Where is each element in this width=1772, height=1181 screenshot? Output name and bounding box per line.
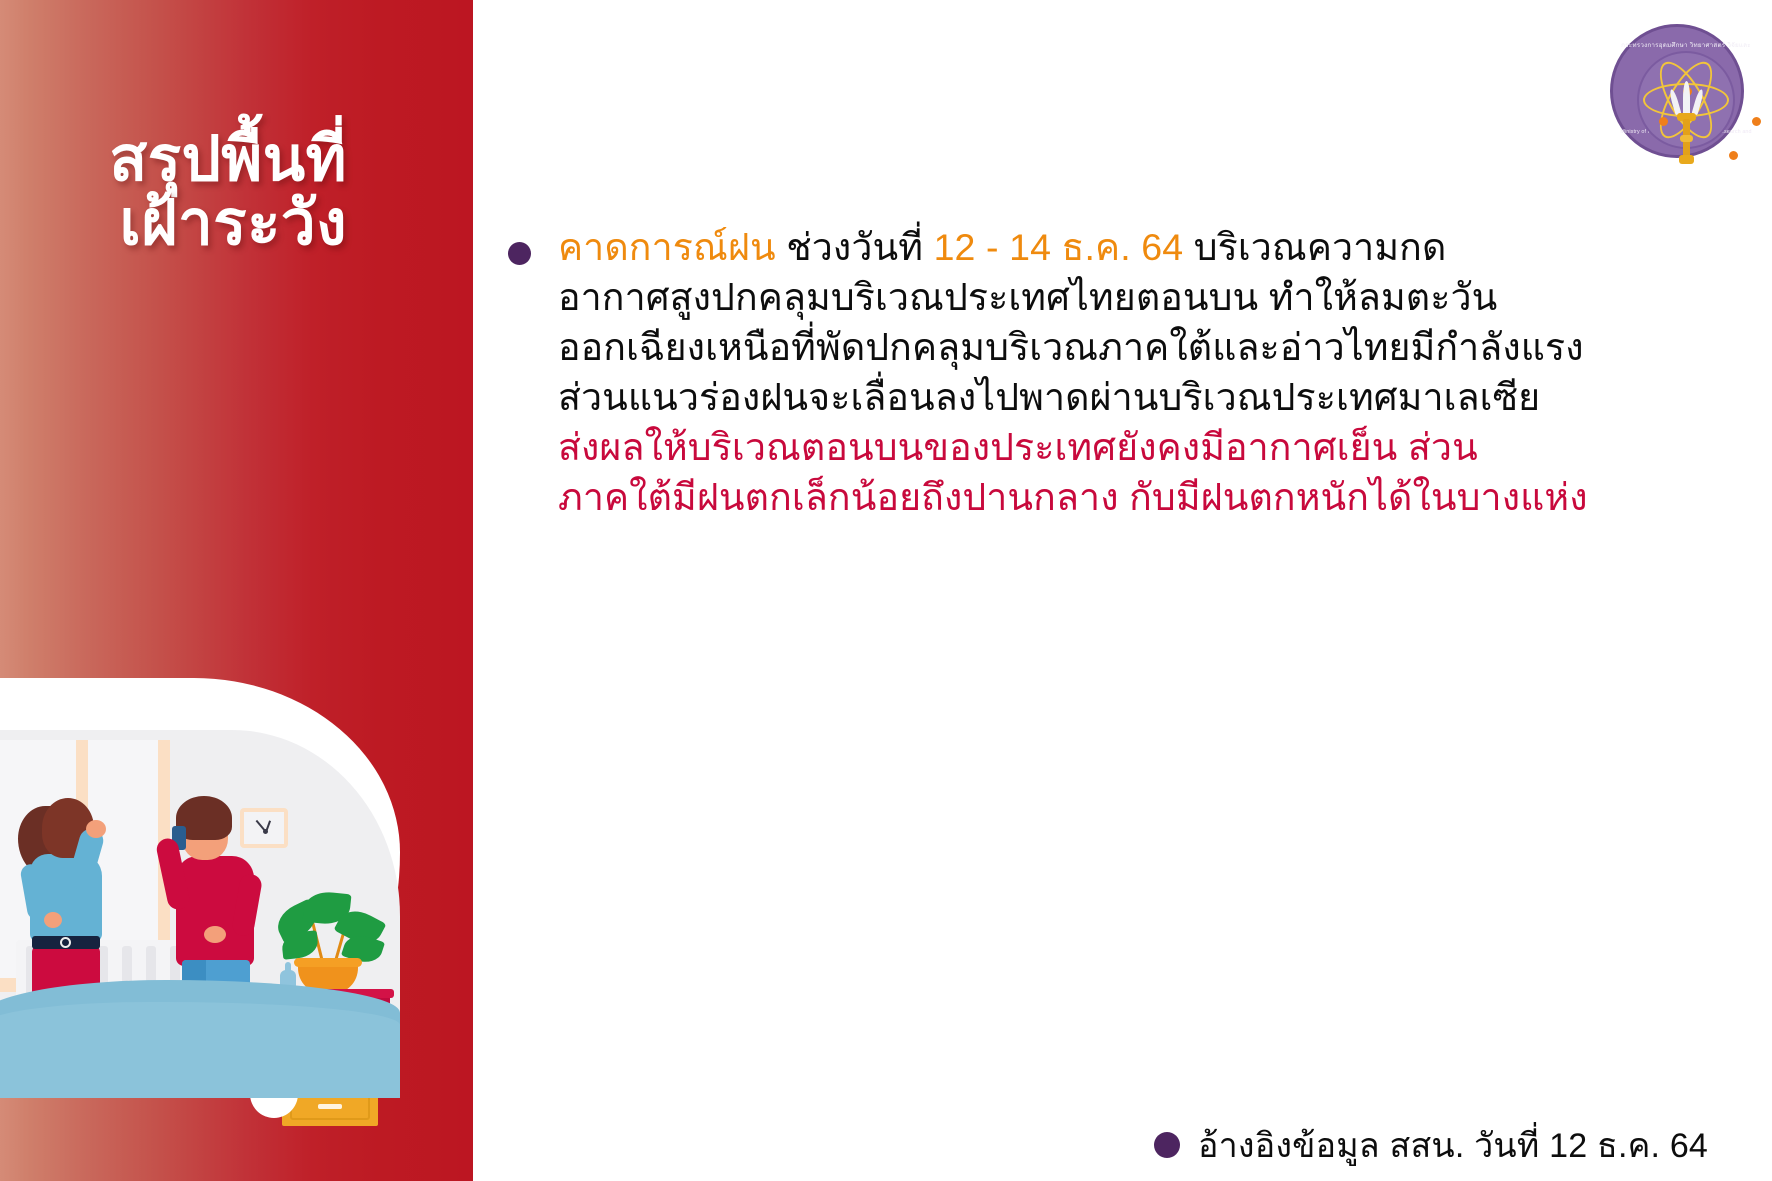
cabinet-handle xyxy=(318,1104,342,1109)
forecast-content: คาดการณ์ฝน ช่วงวันที่ 12 - 14 ธ.ค. 64 บร… xyxy=(498,222,1728,522)
page-title: สรุปพื้นที่ เฝ้าระวัง xyxy=(0,128,473,256)
forecast-line-5: ส่งผลให้บริเวณตอนบนของประเทศยังคงมีอากาศ… xyxy=(558,422,1728,472)
trident-base xyxy=(1679,155,1694,164)
forecast-segment: บริเวณความกด xyxy=(1183,226,1446,268)
source-reference-text: อ้างอิงข้อมูล สสน. วันที่ 12 ธ.ค. 64 xyxy=(1198,1118,1708,1172)
trident-blade-right xyxy=(1692,89,1705,116)
wall-clock-icon xyxy=(240,808,288,848)
woman-raised-hand xyxy=(86,820,106,838)
forecast-line-4: ส่วนแนวร่องฝนจะเลื่อนลงไปพาดผ่านบริเวณปร… xyxy=(558,372,1728,422)
trident-icon xyxy=(1669,81,1703,139)
forecast-segment: อากาศสูงปกคลุมบริเวณประเทศไทยตอนบน ทำให้… xyxy=(558,276,1497,318)
atom-node-icon xyxy=(1729,151,1738,160)
plant-pot-rim xyxy=(294,958,362,967)
forecast-line-6: ภาคใต้มีฝนตกเล็กน้อยถึงปานกลาง กับมีฝนตก… xyxy=(558,472,1728,522)
ministry-logo: กระทรวงการอุดมศึกษา วิทยาศาสตร์ วิจัยและ… xyxy=(1604,18,1750,164)
woman-left-hand xyxy=(44,912,62,928)
forecast-segment: 12 - 14 ธ.ค. 64 xyxy=(934,226,1184,268)
logo-outer-ring: กระทรวงการอุดมศึกษา วิทยาศาสตร์ วิจัยและ… xyxy=(1610,24,1744,158)
clock-center-dot xyxy=(263,829,268,834)
forecast-line-3: ออกเฉียงเหนือที่พัดปกคลุมบริเวณภาคใต้และ… xyxy=(558,322,1728,372)
forecast-bullet-row: คาดการณ์ฝน ช่วงวันที่ 12 - 14 ธ.ค. 64 บร… xyxy=(498,222,1728,522)
bullet-dot-icon xyxy=(1154,1132,1180,1158)
atom-node-icon xyxy=(1752,117,1761,126)
left-red-panel: สรุปพื้นที่ เฝ้าระวัง xyxy=(0,0,473,1181)
trident-blade-center xyxy=(1683,81,1690,115)
infographic-poster: สรุปพื้นที่ เฝ้าระวัง xyxy=(0,0,1772,1181)
flooded-home-illustration xyxy=(0,678,400,1098)
trident-knob xyxy=(1680,135,1693,142)
flood-water-front xyxy=(0,1002,400,1098)
atom-node-icon xyxy=(1659,117,1668,126)
forecast-line-2: อากาศสูงปกคลุมบริเวณประเทศไทยตอนบน ทำให้… xyxy=(558,272,1728,322)
forecast-segment: ออกเฉียงเหนือที่พัดปกคลุมบริเวณภาคใต้และ… xyxy=(558,326,1584,368)
forecast-segment: ส่วนแนวร่องฝนจะเลื่อนลงไปพาดผ่านบริเวณปร… xyxy=(558,376,1540,418)
woman-belt-buckle xyxy=(60,937,71,948)
forecast-segment: ภาคใต้มีฝนตกเล็กน้อยถึงปานกลาง กับมีฝนตก… xyxy=(558,476,1588,518)
title-line-2: เฝ้าระวัง xyxy=(0,192,347,256)
forecast-line-1: คาดการณ์ฝน ช่วงวันที่ 12 - 14 ธ.ค. 64 บร… xyxy=(558,222,1728,272)
forecast-segment: ช่วงวันที่ xyxy=(776,226,934,268)
title-line-1: สรุปพื้นที่ xyxy=(0,128,347,192)
man-hand xyxy=(204,926,226,943)
source-footer: อ้างอิงข้อมูล สสน. วันที่ 12 ธ.ค. 64 xyxy=(1154,1118,1708,1172)
trident-blade-left xyxy=(1669,89,1682,116)
forecast-paragraph: คาดการณ์ฝน ช่วงวันที่ 12 - 14 ธ.ค. 64 บร… xyxy=(558,222,1728,522)
forecast-segment: คาดการณ์ฝน xyxy=(558,226,776,268)
forecast-segment: ส่งผลให้บริเวณตอนบนของประเทศยังคงมีอากาศ… xyxy=(558,426,1478,468)
logo-inner-disc xyxy=(1637,51,1735,149)
bullet-dot-icon xyxy=(508,242,531,265)
